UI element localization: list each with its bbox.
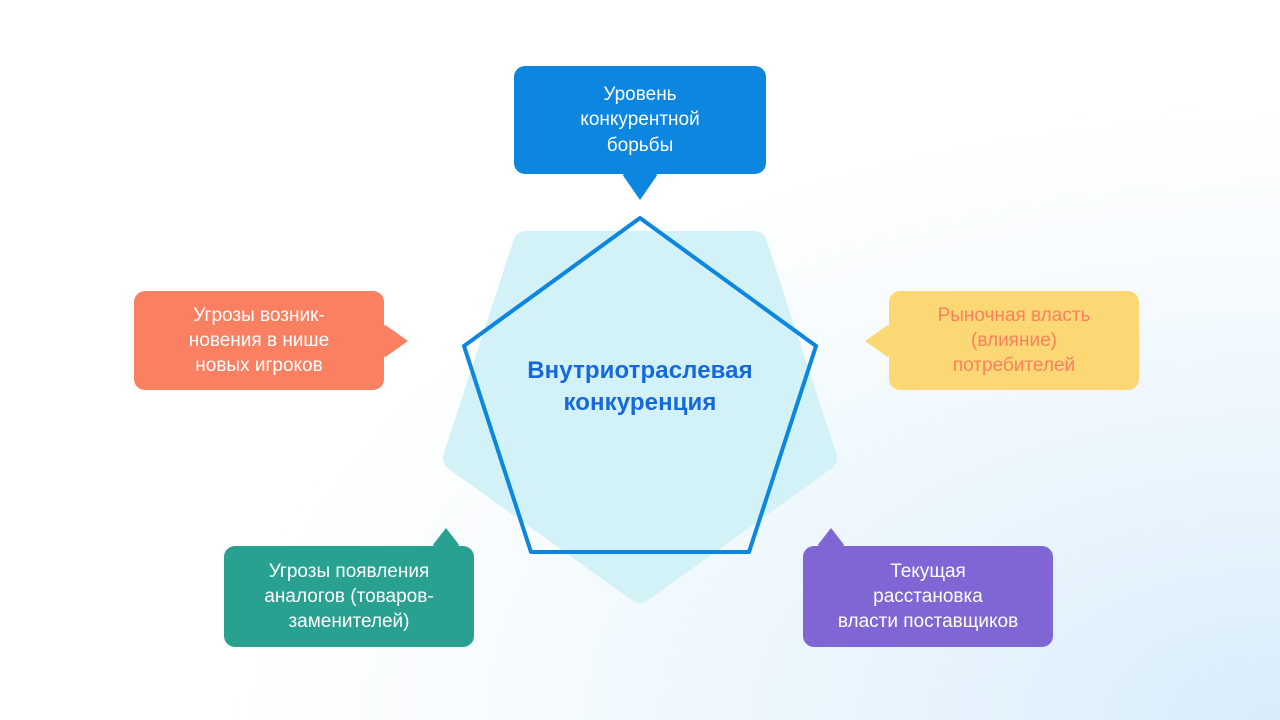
callout-new-entrants-label: Угрозы возник- новения в нише новых игро…: [189, 303, 329, 379]
callout-tail-right-icon: [384, 324, 408, 358]
diagram-canvas: Внутриотраслевая конкуренция Уровень кон…: [0, 0, 1280, 720]
callout-new-entrants[interactable]: Угрозы возник- новения в нише новых игро…: [134, 291, 384, 390]
callout-substitutes[interactable]: Угрозы появления аналогов (товаров- заме…: [224, 546, 474, 647]
callout-competition-level-label: Уровень конкурентной борьбы: [580, 82, 699, 158]
callout-tail-down-icon: [622, 174, 658, 200]
callout-tail-left-icon: [865, 324, 889, 358]
callout-buyer-power-label: Рыночная власть (влияние) потребителей: [938, 303, 1091, 379]
callout-tail-up-icon: [432, 528, 460, 546]
callout-tail-up-icon: [817, 528, 845, 546]
callout-substitutes-label: Угрозы появления аналогов (товаров- заме…: [264, 559, 433, 635]
center-label: Внутриотраслевая конкуренция: [430, 355, 850, 420]
callout-competition-level[interactable]: Уровень конкурентной борьбы: [514, 66, 766, 174]
callout-buyer-power[interactable]: Рыночная власть (влияние) потребителей: [889, 291, 1139, 390]
callout-supplier-power[interactable]: Текущая расстановка власти поставщиков: [803, 546, 1053, 647]
callout-supplier-power-label: Текущая расстановка власти поставщиков: [838, 559, 1018, 635]
